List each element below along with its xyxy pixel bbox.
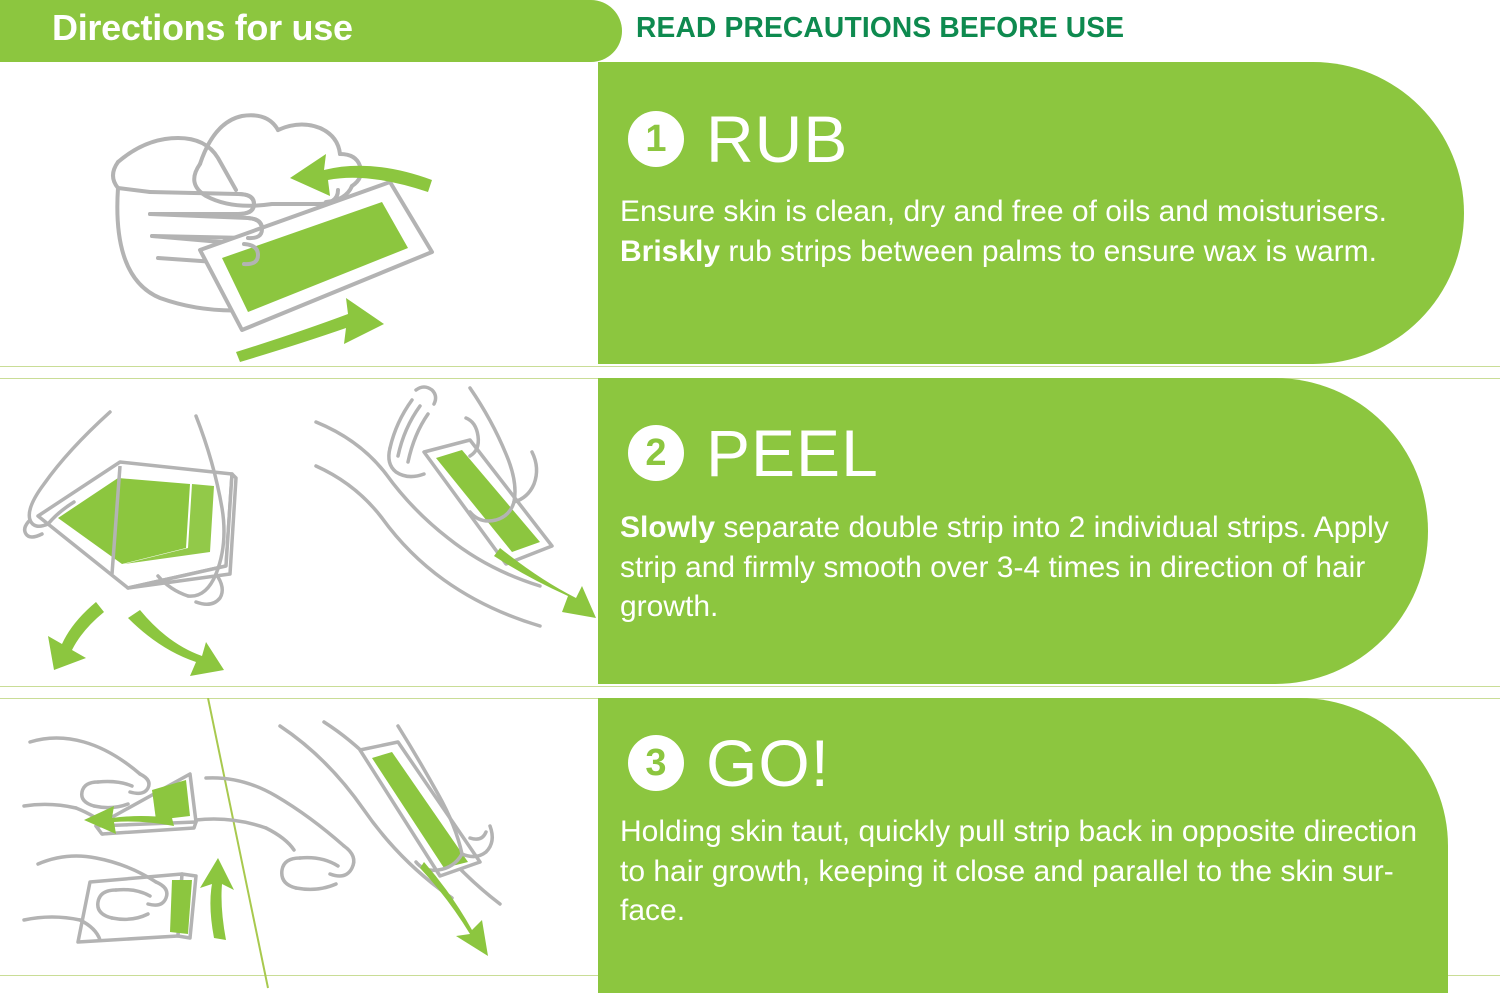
step-title-go: GO! — [706, 730, 830, 796]
read-precautions-label: READ PRECAUTIONS BEFORE USE — [636, 12, 1124, 45]
row-divider — [0, 686, 1500, 687]
step-heading-peel: 2 PEEL — [628, 420, 879, 486]
step-number-badge-2: 2 — [628, 425, 684, 481]
peel-strip-sideways-icon — [24, 738, 196, 834]
arrow-curve-left-icon — [48, 602, 104, 670]
directions-for-use-label: Directions for use — [52, 7, 353, 49]
panel-separator-line — [208, 698, 268, 988]
smooth-strip-on-leg-icon — [316, 387, 596, 626]
arrow-down-right-icon — [494, 548, 596, 618]
pull-strip-back-icon — [196, 722, 500, 956]
step-body-peel: Slowly separate double strip into 2 indi… — [620, 508, 1420, 627]
illustration-rub — [0, 62, 598, 364]
arrow-up-left-icon — [420, 862, 488, 956]
step-body-go: Holding skin taut, quickly pull strip ba… — [620, 812, 1450, 931]
step-heading-rub: 1 RUB — [628, 106, 848, 172]
header-band: Directions for use READ PRECAUTIONS BEFO… — [0, 0, 1500, 62]
step-body-rub-line1: Ensure skin is clean, dry and free of oi… — [620, 195, 1387, 228]
illustration-go — [0, 698, 598, 993]
step-number-badge-3: 3 — [628, 735, 684, 791]
rub-strip-between-palms-icon — [0, 62, 598, 364]
step-body-go-text: Holding skin taut, quickly pull strip ba… — [620, 815, 1417, 927]
row-divider — [0, 366, 1500, 367]
illustration-peel — [0, 378, 598, 684]
instruction-graphic: Directions for use READ PRECAUTIONS BEFO… — [0, 0, 1500, 993]
step-body-rub: Ensure skin is clean, dry and free of oi… — [620, 192, 1420, 271]
arrow-up-icon — [200, 858, 234, 940]
step-body-rub-emphasis: Briskly — [620, 235, 720, 268]
step-body-peel-emphasis: Slowly — [620, 511, 715, 544]
step-body-rub-line2: rub strips between palms to ensure wax i… — [720, 235, 1377, 268]
step-title-rub: RUB — [706, 106, 848, 172]
step-heading-go: 3 GO! — [628, 730, 830, 796]
separate-double-strip-icon — [25, 412, 236, 604]
step-body-peel-text: separate double strip into 2 individual … — [620, 511, 1389, 623]
step-number-badge-1: 1 — [628, 111, 684, 167]
arrow-curve-right-icon — [128, 610, 224, 676]
arrow-left-icon — [290, 154, 432, 196]
step-title-peel: PEEL — [706, 420, 879, 486]
peel-strip-upward-icon — [24, 856, 234, 942]
